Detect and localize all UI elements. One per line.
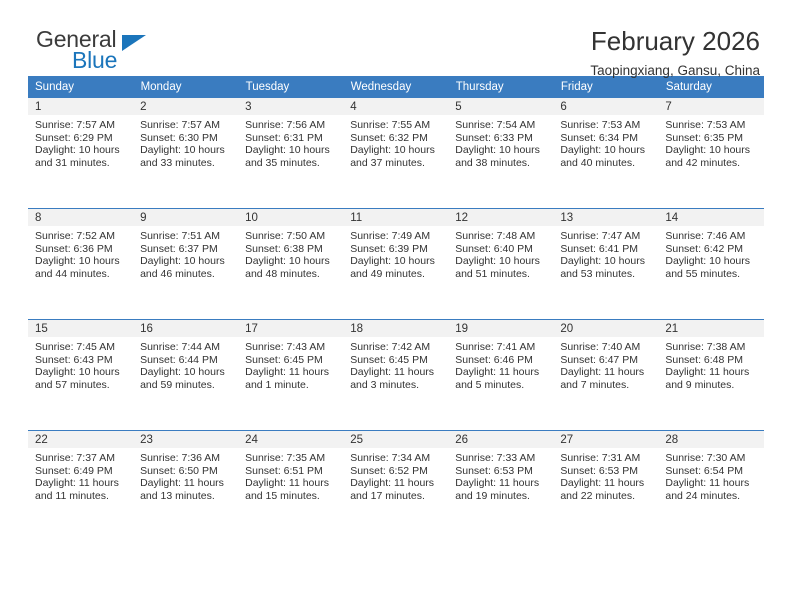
day-cell[interactable]: 18 Sunrise: 7:42 AM Sunset: 6:45 PM Dayl…: [343, 320, 448, 431]
day-number: 13: [553, 209, 658, 226]
daylight-text: Daylight: 10 hours and 53 minutes.: [560, 255, 652, 280]
sunset-text: Sunset: 6:30 PM: [140, 132, 232, 145]
day-detail: Sunrise: 7:51 AM Sunset: 6:37 PM Dayligh…: [133, 226, 238, 280]
sunrise-text: Sunrise: 7:45 AM: [35, 341, 127, 354]
sunrise-text: Sunrise: 7:50 AM: [245, 230, 337, 243]
sunset-text: Sunset: 6:53 PM: [455, 465, 547, 478]
weekday-header-monday: Monday: [133, 76, 238, 98]
sunrise-text: Sunrise: 7:53 AM: [560, 119, 652, 132]
sunset-text: Sunset: 6:43 PM: [35, 354, 127, 367]
day-number: 1: [28, 98, 133, 115]
sunset-text: Sunset: 6:34 PM: [560, 132, 652, 145]
sunset-text: Sunset: 6:40 PM: [455, 243, 547, 256]
day-cell[interactable]: 16 Sunrise: 7:44 AM Sunset: 6:44 PM Dayl…: [133, 320, 238, 431]
sunset-text: Sunset: 6:29 PM: [35, 132, 127, 145]
sunset-text: Sunset: 6:52 PM: [350, 465, 442, 478]
day-number: 24: [238, 431, 343, 448]
day-cell[interactable]: 21 Sunrise: 7:38 AM Sunset: 6:48 PM Dayl…: [658, 320, 763, 431]
daylight-text: Daylight: 11 hours and 5 minutes.: [455, 366, 547, 391]
day-number: 10: [238, 209, 343, 226]
day-detail: Sunrise: 7:33 AM Sunset: 6:53 PM Dayligh…: [448, 448, 553, 502]
sunrise-text: Sunrise: 7:57 AM: [140, 119, 232, 132]
day-cell[interactable]: 25 Sunrise: 7:34 AM Sunset: 6:52 PM Dayl…: [343, 431, 448, 542]
sunset-text: Sunset: 6:51 PM: [245, 465, 337, 478]
sunset-text: Sunset: 6:47 PM: [560, 354, 652, 367]
daylight-text: Daylight: 10 hours and 38 minutes.: [455, 144, 547, 169]
day-cell[interactable]: 8 Sunrise: 7:52 AM Sunset: 6:36 PM Dayli…: [28, 209, 133, 320]
sunrise-text: Sunrise: 7:46 AM: [665, 230, 757, 243]
sunset-text: Sunset: 6:48 PM: [665, 354, 757, 367]
day-detail: Sunrise: 7:44 AM Sunset: 6:44 PM Dayligh…: [133, 337, 238, 391]
day-cell[interactable]: 27 Sunrise: 7:31 AM Sunset: 6:53 PM Dayl…: [553, 431, 658, 542]
daylight-text: Daylight: 10 hours and 49 minutes.: [350, 255, 442, 280]
day-detail: Sunrise: 7:40 AM Sunset: 6:47 PM Dayligh…: [553, 337, 658, 391]
daylight-text: Daylight: 11 hours and 24 minutes.: [665, 477, 757, 502]
logo-triangle-icon: [122, 35, 146, 51]
day-number: 18: [343, 320, 448, 337]
day-number: 2: [133, 98, 238, 115]
day-number: 27: [553, 431, 658, 448]
day-number: 16: [133, 320, 238, 337]
sunrise-text: Sunrise: 7:53 AM: [665, 119, 757, 132]
sunrise-text: Sunrise: 7:48 AM: [455, 230, 547, 243]
day-number: 8: [28, 209, 133, 226]
sunrise-text: Sunrise: 7:55 AM: [350, 119, 442, 132]
day-detail: Sunrise: 7:53 AM Sunset: 6:34 PM Dayligh…: [553, 115, 658, 169]
day-cell[interactable]: 2 Sunrise: 7:57 AM Sunset: 6:30 PM Dayli…: [133, 98, 238, 209]
sunrise-text: Sunrise: 7:40 AM: [560, 341, 652, 354]
day-number: 5: [448, 98, 553, 115]
sunset-text: Sunset: 6:32 PM: [350, 132, 442, 145]
day-cell[interactable]: 20 Sunrise: 7:40 AM Sunset: 6:47 PM Dayl…: [553, 320, 658, 431]
daylight-text: Daylight: 10 hours and 40 minutes.: [560, 144, 652, 169]
day-cell[interactable]: 13 Sunrise: 7:47 AM Sunset: 6:41 PM Dayl…: [553, 209, 658, 320]
day-cell[interactable]: 24 Sunrise: 7:35 AM Sunset: 6:51 PM Dayl…: [238, 431, 343, 542]
calendar-page: General Blue February 2026 Taopingxiang,…: [0, 0, 792, 612]
day-cell[interactable]: 23 Sunrise: 7:36 AM Sunset: 6:50 PM Dayl…: [133, 431, 238, 542]
day-cell[interactable]: 4 Sunrise: 7:55 AM Sunset: 6:32 PM Dayli…: [343, 98, 448, 209]
weekday-header-wednesday: Wednesday: [343, 76, 448, 98]
weekday-header-thursday: Thursday: [448, 76, 553, 98]
day-detail: Sunrise: 7:35 AM Sunset: 6:51 PM Dayligh…: [238, 448, 343, 502]
sunrise-text: Sunrise: 7:31 AM: [560, 452, 652, 465]
sunset-text: Sunset: 6:44 PM: [140, 354, 232, 367]
daylight-text: Daylight: 10 hours and 59 minutes.: [140, 366, 232, 391]
day-detail: Sunrise: 7:57 AM Sunset: 6:29 PM Dayligh…: [28, 115, 133, 169]
day-cell[interactable]: 6 Sunrise: 7:53 AM Sunset: 6:34 PM Dayli…: [553, 98, 658, 209]
day-number: 6: [553, 98, 658, 115]
sunrise-text: Sunrise: 7:47 AM: [560, 230, 652, 243]
daylight-text: Daylight: 11 hours and 15 minutes.: [245, 477, 337, 502]
sunrise-text: Sunrise: 7:35 AM: [245, 452, 337, 465]
daylight-text: Daylight: 11 hours and 3 minutes.: [350, 366, 442, 391]
day-number: 17: [238, 320, 343, 337]
day-detail: Sunrise: 7:38 AM Sunset: 6:48 PM Dayligh…: [658, 337, 763, 391]
title-block: February 2026 Taopingxiang, Gansu, China: [590, 26, 764, 80]
day-detail: Sunrise: 7:55 AM Sunset: 6:32 PM Dayligh…: [343, 115, 448, 169]
day-cell[interactable]: 26 Sunrise: 7:33 AM Sunset: 6:53 PM Dayl…: [448, 431, 553, 542]
day-detail: Sunrise: 7:56 AM Sunset: 6:31 PM Dayligh…: [238, 115, 343, 169]
day-cell[interactable]: 15 Sunrise: 7:45 AM Sunset: 6:43 PM Dayl…: [28, 320, 133, 431]
day-cell[interactable]: 3 Sunrise: 7:56 AM Sunset: 6:31 PM Dayli…: [238, 98, 343, 209]
daylight-text: Daylight: 10 hours and 44 minutes.: [35, 255, 127, 280]
day-cell[interactable]: 7 Sunrise: 7:53 AM Sunset: 6:35 PM Dayli…: [658, 98, 763, 209]
sunrise-text: Sunrise: 7:49 AM: [350, 230, 442, 243]
sunrise-sunset-calendar: Sunday Monday Tuesday Wednesday Thursday…: [28, 76, 764, 541]
day-detail: Sunrise: 7:50 AM Sunset: 6:38 PM Dayligh…: [238, 226, 343, 280]
daylight-text: Daylight: 11 hours and 22 minutes.: [560, 477, 652, 502]
daylight-text: Daylight: 10 hours and 35 minutes.: [245, 144, 337, 169]
day-number: 23: [133, 431, 238, 448]
day-detail: Sunrise: 7:30 AM Sunset: 6:54 PM Dayligh…: [658, 448, 763, 502]
day-number: 22: [28, 431, 133, 448]
day-number: 9: [133, 209, 238, 226]
daylight-text: Daylight: 10 hours and 33 minutes.: [140, 144, 232, 169]
daylight-text: Daylight: 10 hours and 46 minutes.: [140, 255, 232, 280]
day-cell[interactable]: 11 Sunrise: 7:49 AM Sunset: 6:39 PM Dayl…: [343, 209, 448, 320]
week-row: 8 Sunrise: 7:52 AM Sunset: 6:36 PM Dayli…: [28, 209, 764, 320]
sunset-text: Sunset: 6:37 PM: [140, 243, 232, 256]
day-detail: Sunrise: 7:36 AM Sunset: 6:50 PM Dayligh…: [133, 448, 238, 502]
sunrise-text: Sunrise: 7:51 AM: [140, 230, 232, 243]
general-blue-logo[interactable]: General Blue: [28, 26, 168, 78]
day-number: 28: [658, 431, 763, 448]
sunrise-text: Sunrise: 7:54 AM: [455, 119, 547, 132]
daylight-text: Daylight: 10 hours and 48 minutes.: [245, 255, 337, 280]
daylight-text: Daylight: 10 hours and 51 minutes.: [455, 255, 547, 280]
day-cell[interactable]: 12 Sunrise: 7:48 AM Sunset: 6:40 PM Dayl…: [448, 209, 553, 320]
day-detail: Sunrise: 7:52 AM Sunset: 6:36 PM Dayligh…: [28, 226, 133, 280]
sunrise-text: Sunrise: 7:37 AM: [35, 452, 127, 465]
sunset-text: Sunset: 6:54 PM: [665, 465, 757, 478]
day-number: 3: [238, 98, 343, 115]
day-detail: Sunrise: 7:54 AM Sunset: 6:33 PM Dayligh…: [448, 115, 553, 169]
sunrise-text: Sunrise: 7:56 AM: [245, 119, 337, 132]
day-detail: Sunrise: 7:43 AM Sunset: 6:45 PM Dayligh…: [238, 337, 343, 391]
sunset-text: Sunset: 6:35 PM: [665, 132, 757, 145]
day-cell[interactable]: 17 Sunrise: 7:43 AM Sunset: 6:45 PM Dayl…: [238, 320, 343, 431]
sunset-text: Sunset: 6:31 PM: [245, 132, 337, 145]
day-detail: Sunrise: 7:46 AM Sunset: 6:42 PM Dayligh…: [658, 226, 763, 280]
day-cell[interactable]: 5 Sunrise: 7:54 AM Sunset: 6:33 PM Dayli…: [448, 98, 553, 209]
sunset-text: Sunset: 6:36 PM: [35, 243, 127, 256]
sunrise-text: Sunrise: 7:30 AM: [665, 452, 757, 465]
day-cell[interactable]: 28 Sunrise: 7:30 AM Sunset: 6:54 PM Dayl…: [658, 431, 763, 542]
day-number: 7: [658, 98, 763, 115]
logo-text-blue: Blue: [72, 49, 168, 71]
sunrise-text: Sunrise: 7:52 AM: [35, 230, 127, 243]
day-cell[interactable]: 9 Sunrise: 7:51 AM Sunset: 6:37 PM Dayli…: [133, 209, 238, 320]
daylight-text: Daylight: 11 hours and 19 minutes.: [455, 477, 547, 502]
sunset-text: Sunset: 6:42 PM: [665, 243, 757, 256]
day-detail: Sunrise: 7:47 AM Sunset: 6:41 PM Dayligh…: [553, 226, 658, 280]
week-row: 1 Sunrise: 7:57 AM Sunset: 6:29 PM Dayli…: [28, 98, 764, 209]
day-number: 19: [448, 320, 553, 337]
sunrise-text: Sunrise: 7:57 AM: [35, 119, 127, 132]
daylight-text: Daylight: 10 hours and 31 minutes.: [35, 144, 127, 169]
day-cell[interactable]: 14 Sunrise: 7:46 AM Sunset: 6:42 PM Dayl…: [658, 209, 763, 320]
day-detail: Sunrise: 7:34 AM Sunset: 6:52 PM Dayligh…: [343, 448, 448, 502]
page-subtitle: Taopingxiang, Gansu, China: [590, 62, 760, 80]
day-number: 20: [553, 320, 658, 337]
day-number: 25: [343, 431, 448, 448]
daylight-text: Daylight: 10 hours and 55 minutes.: [665, 255, 757, 280]
sunrise-text: Sunrise: 7:36 AM: [140, 452, 232, 465]
day-number: 15: [28, 320, 133, 337]
day-detail: Sunrise: 7:49 AM Sunset: 6:39 PM Dayligh…: [343, 226, 448, 280]
day-detail: Sunrise: 7:48 AM Sunset: 6:40 PM Dayligh…: [448, 226, 553, 280]
day-cell[interactable]: 10 Sunrise: 7:50 AM Sunset: 6:38 PM Dayl…: [238, 209, 343, 320]
weekday-header-tuesday: Tuesday: [238, 76, 343, 98]
day-cell[interactable]: 19 Sunrise: 7:41 AM Sunset: 6:46 PM Dayl…: [448, 320, 553, 431]
daylight-text: Daylight: 11 hours and 1 minute.: [245, 366, 337, 391]
day-number: 21: [658, 320, 763, 337]
sunrise-text: Sunrise: 7:33 AM: [455, 452, 547, 465]
week-row: 15 Sunrise: 7:45 AM Sunset: 6:43 PM Dayl…: [28, 320, 764, 431]
sunset-text: Sunset: 6:45 PM: [350, 354, 442, 367]
sunrise-text: Sunrise: 7:43 AM: [245, 341, 337, 354]
day-detail: Sunrise: 7:41 AM Sunset: 6:46 PM Dayligh…: [448, 337, 553, 391]
day-number: 12: [448, 209, 553, 226]
sunset-text: Sunset: 6:53 PM: [560, 465, 652, 478]
sunrise-text: Sunrise: 7:44 AM: [140, 341, 232, 354]
day-detail: Sunrise: 7:45 AM Sunset: 6:43 PM Dayligh…: [28, 337, 133, 391]
calendar-body: 1 Sunrise: 7:57 AM Sunset: 6:29 PM Dayli…: [28, 98, 764, 541]
page-header: General Blue February 2026 Taopingxiang,…: [28, 0, 764, 76]
day-detail: Sunrise: 7:31 AM Sunset: 6:53 PM Dayligh…: [553, 448, 658, 502]
sunrise-text: Sunrise: 7:38 AM: [665, 341, 757, 354]
sunset-text: Sunset: 6:45 PM: [245, 354, 337, 367]
day-number: 14: [658, 209, 763, 226]
daylight-text: Daylight: 11 hours and 7 minutes.: [560, 366, 652, 391]
day-cell[interactable]: 22 Sunrise: 7:37 AM Sunset: 6:49 PM Dayl…: [28, 431, 133, 542]
day-detail: Sunrise: 7:42 AM Sunset: 6:45 PM Dayligh…: [343, 337, 448, 391]
sunset-text: Sunset: 6:50 PM: [140, 465, 232, 478]
weekday-header-sunday: Sunday: [28, 76, 133, 98]
sunrise-text: Sunrise: 7:42 AM: [350, 341, 442, 354]
week-row: 22 Sunrise: 7:37 AM Sunset: 6:49 PM Dayl…: [28, 431, 764, 542]
sunset-text: Sunset: 6:39 PM: [350, 243, 442, 256]
daylight-text: Daylight: 10 hours and 37 minutes.: [350, 144, 442, 169]
day-cell[interactable]: 1 Sunrise: 7:57 AM Sunset: 6:29 PM Dayli…: [28, 98, 133, 209]
sunrise-text: Sunrise: 7:41 AM: [455, 341, 547, 354]
sunset-text: Sunset: 6:46 PM: [455, 354, 547, 367]
sunrise-text: Sunrise: 7:34 AM: [350, 452, 442, 465]
daylight-text: Daylight: 10 hours and 42 minutes.: [665, 144, 757, 169]
daylight-text: Daylight: 10 hours and 57 minutes.: [35, 366, 127, 391]
sunset-text: Sunset: 6:41 PM: [560, 243, 652, 256]
day-detail: Sunrise: 7:57 AM Sunset: 6:30 PM Dayligh…: [133, 115, 238, 169]
daylight-text: Daylight: 11 hours and 11 minutes.: [35, 477, 127, 502]
day-number: 11: [343, 209, 448, 226]
daylight-text: Daylight: 11 hours and 17 minutes.: [350, 477, 442, 502]
day-detail: Sunrise: 7:37 AM Sunset: 6:49 PM Dayligh…: [28, 448, 133, 502]
day-number: 26: [448, 431, 553, 448]
page-title: February 2026: [590, 26, 760, 56]
sunset-text: Sunset: 6:49 PM: [35, 465, 127, 478]
day-detail: Sunrise: 7:53 AM Sunset: 6:35 PM Dayligh…: [658, 115, 763, 169]
daylight-text: Daylight: 11 hours and 13 minutes.: [140, 477, 232, 502]
daylight-text: Daylight: 11 hours and 9 minutes.: [665, 366, 757, 391]
sunset-text: Sunset: 6:33 PM: [455, 132, 547, 145]
day-number: 4: [343, 98, 448, 115]
sunset-text: Sunset: 6:38 PM: [245, 243, 337, 256]
